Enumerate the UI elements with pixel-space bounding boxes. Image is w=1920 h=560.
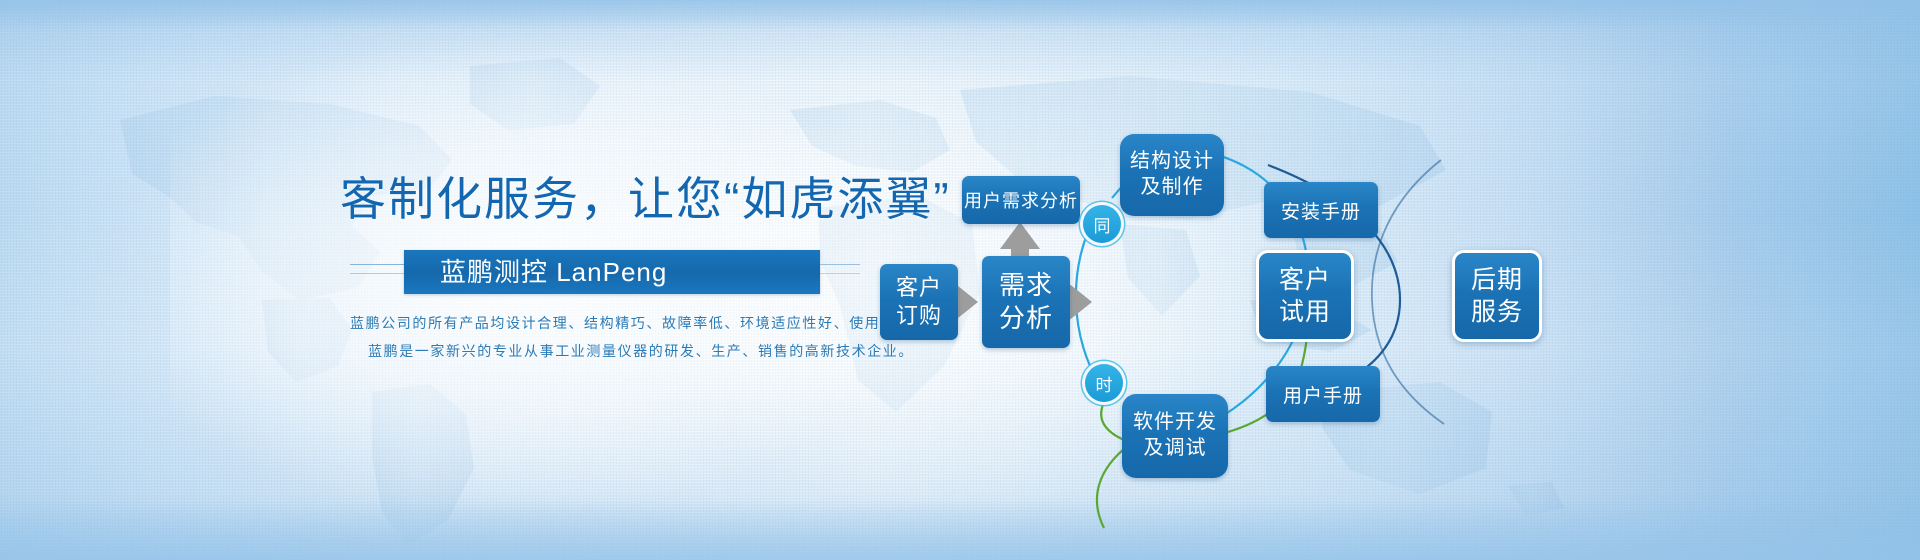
flow-node-user-requirement-analysis[interactable]: 用户需求分析 <box>962 176 1080 224</box>
flow-node-software-development-line-1: 软件开发 <box>1133 410 1217 436</box>
flow-connector-curves <box>0 0 1920 560</box>
flow-node-software-development-line-2: 及调试 <box>1133 436 1217 462</box>
flow-node-customer-trial[interactable]: 客户 试用 <box>1256 250 1354 342</box>
flow-node-customer-order-line-1: 客户 <box>896 274 942 302</box>
flow-node-after-service[interactable]: 后期 服务 <box>1452 250 1542 342</box>
flow-node-installation-manual[interactable]: 安装手册 <box>1264 182 1378 238</box>
flow-node-after-service-line-2: 服务 <box>1471 296 1523 328</box>
flow-node-demand-analysis-line-2: 分析 <box>999 302 1053 335</box>
flow-node-customer-order-line-2: 订购 <box>896 302 942 330</box>
flow-badge-shi[interactable]: 时 <box>1085 364 1123 402</box>
flow-node-customer-trial-line-2: 试用 <box>1279 296 1331 328</box>
banner-root: 客制化服务，让您“如虎添翼” 蓝鹏测控 LanPeng 蓝鹏公司的所有产品均设计… <box>0 0 1920 560</box>
flow-node-customer-trial-line-1: 客户 <box>1279 264 1331 296</box>
flow-node-user-manual[interactable]: 用户手册 <box>1266 366 1380 422</box>
flow-node-demand-analysis[interactable]: 需求 分析 <box>982 256 1070 348</box>
flow-node-user-requirement-analysis-label: 用户需求分析 <box>964 187 1078 213</box>
flow-badge-shi-label: 时 <box>1096 371 1113 396</box>
flow-badge-tong[interactable]: 同 <box>1083 205 1121 243</box>
curve-green-badge <box>1101 402 1124 440</box>
flow-node-structure-design-line-1: 结构设计 <box>1130 149 1214 175</box>
flow-node-structure-design-line-2: 及制作 <box>1130 175 1214 201</box>
flow-node-software-development[interactable]: 软件开发 及调试 <box>1122 394 1228 478</box>
flow-badge-tong-label: 同 <box>1094 212 1111 237</box>
flow-node-user-manual-label: 用户手册 <box>1283 381 1363 408</box>
process-flow-diagram: 客户 订购 需求 分析 用户需求分析 结构设计 及制作 软件开发 及调试 <box>0 0 1920 560</box>
curve-navy-inner <box>1372 160 1444 424</box>
flow-node-installation-manual-label: 安装手册 <box>1281 197 1361 224</box>
flow-node-demand-analysis-line-1: 需求 <box>999 269 1053 302</box>
flow-node-structure-design[interactable]: 结构设计 及制作 <box>1120 134 1224 216</box>
flow-node-customer-order[interactable]: 客户 订购 <box>880 264 958 340</box>
flow-node-after-service-line-1: 后期 <box>1471 264 1523 296</box>
